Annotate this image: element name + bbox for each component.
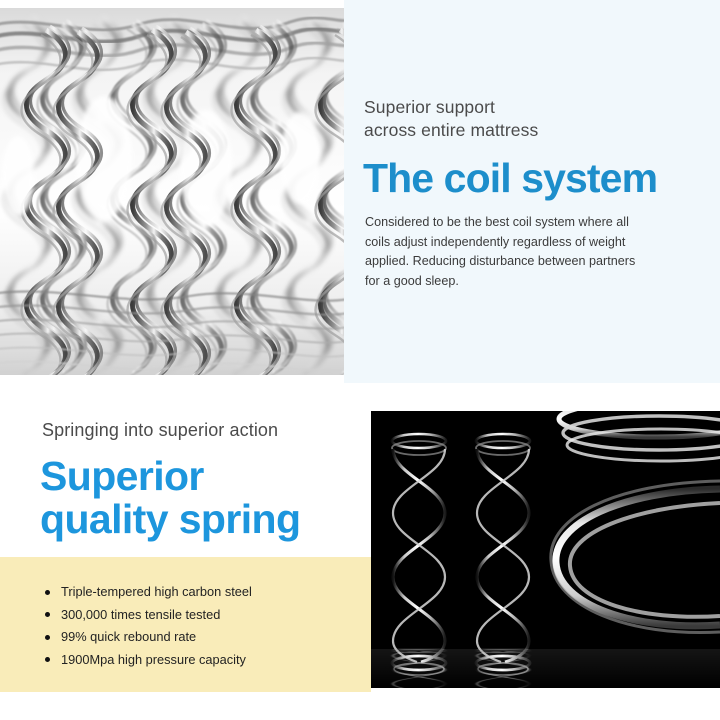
coil-system-description-line-1: Considered to be the best coil system wh… [365,213,657,233]
spring-pitch-headline: Superior quality spring [40,455,300,541]
list-item: 300,000 times tensile tested [45,604,252,627]
coil-system-description-line-2: coils adjust independently regardless of… [365,233,657,253]
spring-pitch-headline-line-1: Superior [40,455,300,498]
coil-system-info-panel: Superior support across entire mattress … [344,0,720,383]
coil-system-eyebrow: Superior support across entire mattress [364,96,694,142]
coil-springs-on-black-photo [371,411,720,688]
spring-pitch-eyebrow: Springing into superior action [42,420,278,441]
spring-feature-list: Triple-tempered high carbon steel 300,00… [45,581,252,671]
spring-pitch-headline-line-2: quality spring [40,498,300,541]
list-item: 99% quick rebound rate [45,626,252,649]
coil-system-description-line-3: applied. Reducing disturbance between pa… [365,252,657,272]
coil-system-description: Considered to be the best coil system wh… [365,213,657,291]
coil-system-eyebrow-line-1: Superior support [364,96,694,119]
product-feature-graphic: Superior support across entire mattress … [0,0,720,720]
spring-feature-box: Triple-tempered high carbon steel 300,00… [0,557,371,692]
list-item: 1900Mpa high pressure capacity [45,649,252,672]
coil-system-headline: The coil system [363,155,657,201]
coil-system-eyebrow-line-2: across entire mattress [364,119,694,142]
list-item: Triple-tempered high carbon steel [45,581,252,604]
coil-spring-rows-photo [0,8,344,375]
coil-system-description-line-4: for a good sleep. [365,272,657,292]
